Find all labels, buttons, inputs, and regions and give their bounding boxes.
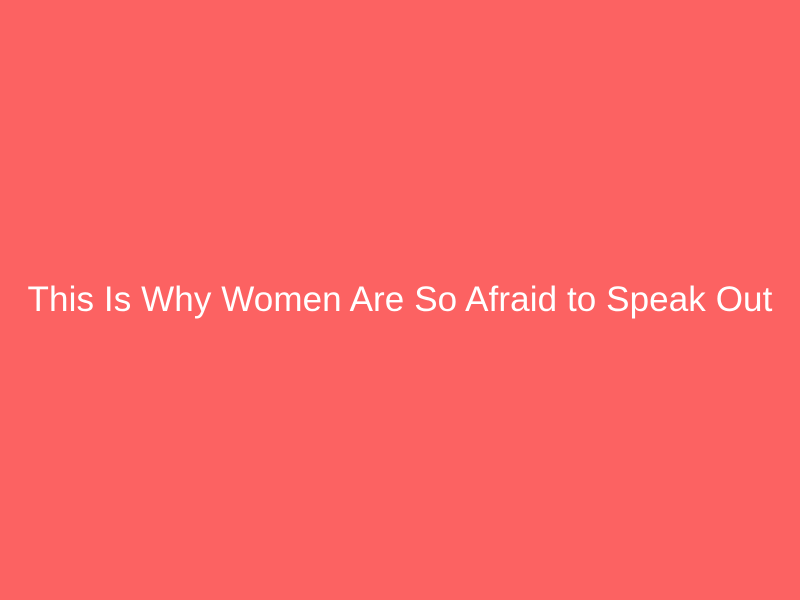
page-title: This Is Why Women Are So Afraid to Speak…	[28, 278, 773, 323]
headline-card: This Is Why Women Are So Afraid to Speak…	[0, 0, 800, 600]
